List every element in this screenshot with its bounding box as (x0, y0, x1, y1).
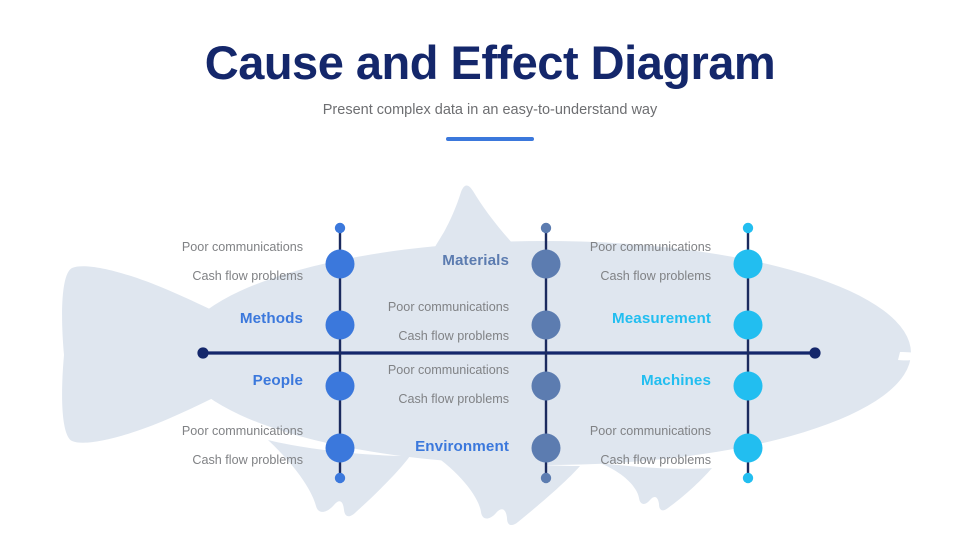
node-environment[interactable] (532, 434, 561, 463)
node-materials[interactable] (532, 250, 561, 279)
cause-label-environment-2: Cash flow problems (398, 392, 509, 406)
fish-dorsal-fin-shape (399, 185, 556, 290)
cause-label-machines-1: Poor communications (590, 424, 711, 438)
category-label-methods[interactable]: Methods (240, 310, 303, 327)
cause-label-measurement-2: Cash flow problems (600, 269, 711, 283)
cause-label-materials-1: Poor communications (388, 300, 509, 314)
cause-label-environment-1: Poor communications (388, 363, 509, 377)
node-machines[interactable] (734, 372, 763, 401)
node-methods[interactable] (326, 311, 355, 340)
branch-cap-bottom-right (743, 473, 753, 483)
category-label-materials[interactable]: Materials (442, 252, 509, 269)
category-label-people[interactable]: People (253, 372, 303, 389)
node-methods-cause[interactable] (326, 250, 355, 279)
branch-cap-top-middle (541, 223, 551, 233)
node-machines-cause[interactable] (734, 434, 763, 463)
cause-label-people-2: Cash flow problems (192, 453, 303, 467)
cause-label-materials-2: Cash flow problems (398, 329, 509, 343)
node-people[interactable] (326, 372, 355, 401)
branch-cap-top-left (335, 223, 345, 233)
node-people-cause[interactable] (326, 434, 355, 463)
category-label-measurement[interactable]: Measurement (612, 310, 711, 327)
header: Cause and Effect Diagram Present complex… (0, 0, 980, 141)
spine-head-endpoint (809, 347, 820, 358)
page-title: Cause and Effect Diagram (0, 0, 980, 87)
category-label-environment[interactable]: Environment (415, 438, 509, 455)
spine-tail-endpoint (197, 347, 208, 358)
category-label-machines[interactable]: Machines (641, 372, 711, 389)
node-environment-cause[interactable] (532, 372, 561, 401)
slide-canvas: Cause and Effect Diagram Present complex… (0, 0, 980, 551)
fish-rear-fin-shape (600, 463, 712, 510)
accent-bar (446, 137, 534, 141)
branch-cap-bottom-middle (541, 473, 551, 483)
cause-label-machines-2: Cash flow problems (600, 453, 711, 467)
fish-silhouette (62, 185, 930, 525)
node-measurement-cause[interactable] (734, 250, 763, 279)
node-measurement[interactable] (734, 311, 763, 340)
branch-cap-top-right (743, 223, 753, 233)
cause-label-people-1: Poor communications (182, 424, 303, 438)
branch-cap-bottom-left (335, 473, 345, 483)
cause-label-methods-2: Cash flow problems (192, 269, 303, 283)
node-materials-cause[interactable] (532, 311, 561, 340)
fish-mouth-shape (898, 352, 930, 360)
cause-label-measurement-1: Poor communications (590, 240, 711, 254)
page-subtitle: Present complex data in an easy-to-under… (0, 87, 980, 119)
cause-label-methods-1: Poor communications (182, 240, 303, 254)
